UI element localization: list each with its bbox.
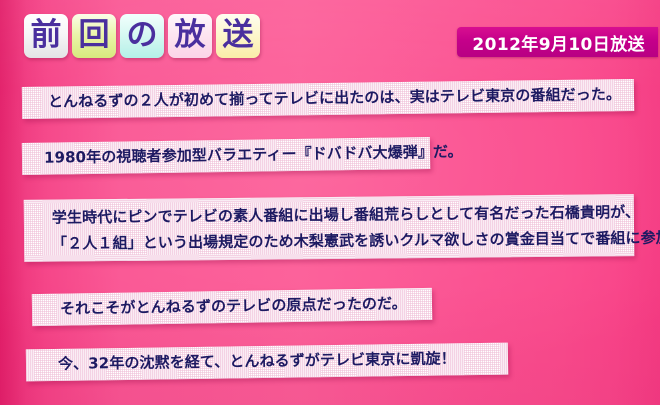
title-tile-5: 送 [216,14,260,58]
title-tile-char: 回 [79,20,110,51]
text-bar-5: 今、32年の沈黙を経て、とんねるずがテレビ東京に凱旋！ [26,343,508,382]
text-bar-1: とんねるずの２人が初めて揃ってテレビに出たのは、実はテレビ東京の番組だった。 [22,79,634,119]
broadcast-date-badge: 2012年9月10日放送 [457,27,658,57]
broadcast-date-label: 2012年9月10日放送 [472,30,645,55]
title-tile-char: 送 [223,20,254,51]
promo-panel: 前 回 の 放 送 2012年9月10日放送 とんねるずの２人が初めて揃ってテレ… [0,0,660,405]
page-title: 前 回 の 放 送 [24,14,260,58]
text-bar-line: 今、32年の沈黙を経て、とんねるずがテレビ東京に凱旋！ [58,351,508,373]
text-bar-4: それこそがとんねるずのテレビの原点だったのだ。 [32,288,432,326]
text-bar-line: とんねるずの２人が初めて揃ってテレビに出たのは、実はテレビ東京の番組だった。 [48,87,634,110]
text-bar-line: 学生時代にピンでテレビの素人番組に出場し番組荒らしとして有名だった石橋貴明が、 [52,205,634,226]
text-bar-2: 1980年の視聴者参加型バラエティー『ドバドバ大爆弾』だ。 [22,137,430,175]
title-tile-2: 回 [72,14,116,58]
title-tile-char: の [127,20,158,51]
text-bar-3: 学生時代にピンでテレビの素人番組に出場し番組荒らしとして有名だった石橋貴明が、 … [24,194,635,262]
title-tile-3: の [120,14,164,58]
title-tile-4: 放 [168,14,212,58]
text-bar-line: 1980年の視聴者参加型バラエティー『ドバドバ大爆弾』だ。 [44,145,430,166]
text-bar-line: それこそがとんねるずのテレビの原点だったのだ。 [60,296,432,318]
text-bar-line: 「２人１組」という出場規定のため木梨憲武を誘いクルマ欲しさの賞金目当てで番組に参… [52,231,634,252]
title-tile-char: 放 [175,20,206,51]
title-tile-char: 前 [31,20,62,51]
title-tile-1: 前 [24,14,68,58]
